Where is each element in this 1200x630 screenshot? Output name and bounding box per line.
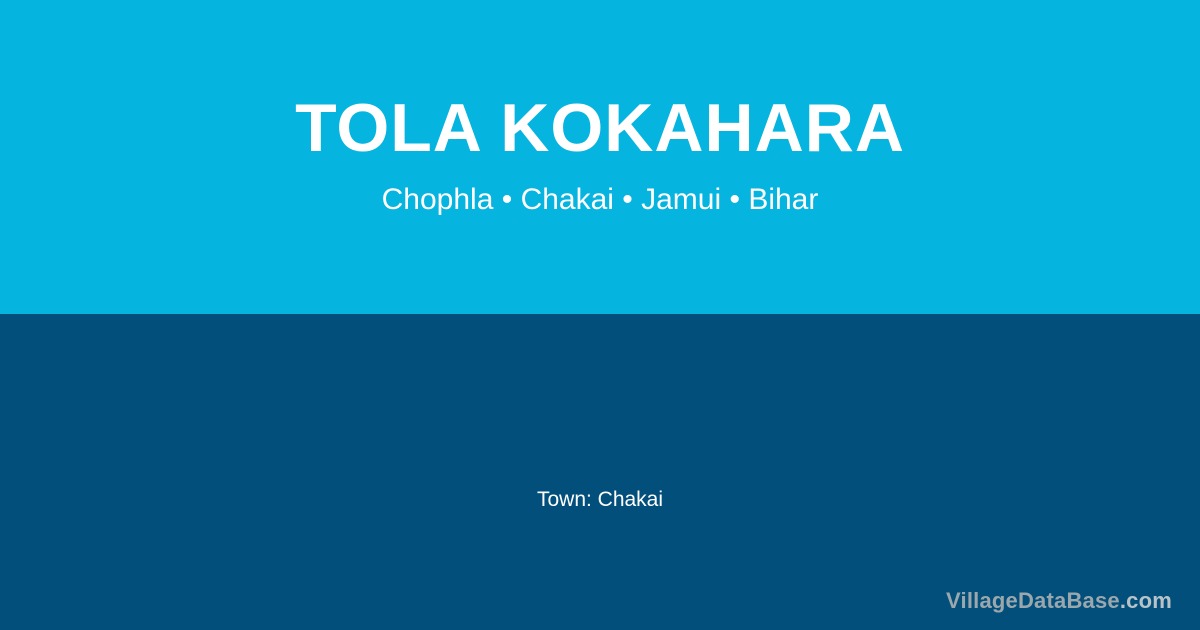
- site-watermark: VillageDataBase.com: [946, 588, 1172, 614]
- town-detail: Town: Chakai: [0, 486, 1200, 514]
- village-info-card: TOLA KOKAHARA Chophla • Chakai • Jamui •…: [0, 0, 1200, 630]
- page-title: TOLA KOKAHARA: [0, 86, 1200, 170]
- watermark-brand: VillageDataBase: [946, 588, 1120, 613]
- watermark-tld: .com: [1120, 588, 1172, 613]
- breadcrumb: Chophla • Chakai • Jamui • Bihar: [0, 181, 1200, 219]
